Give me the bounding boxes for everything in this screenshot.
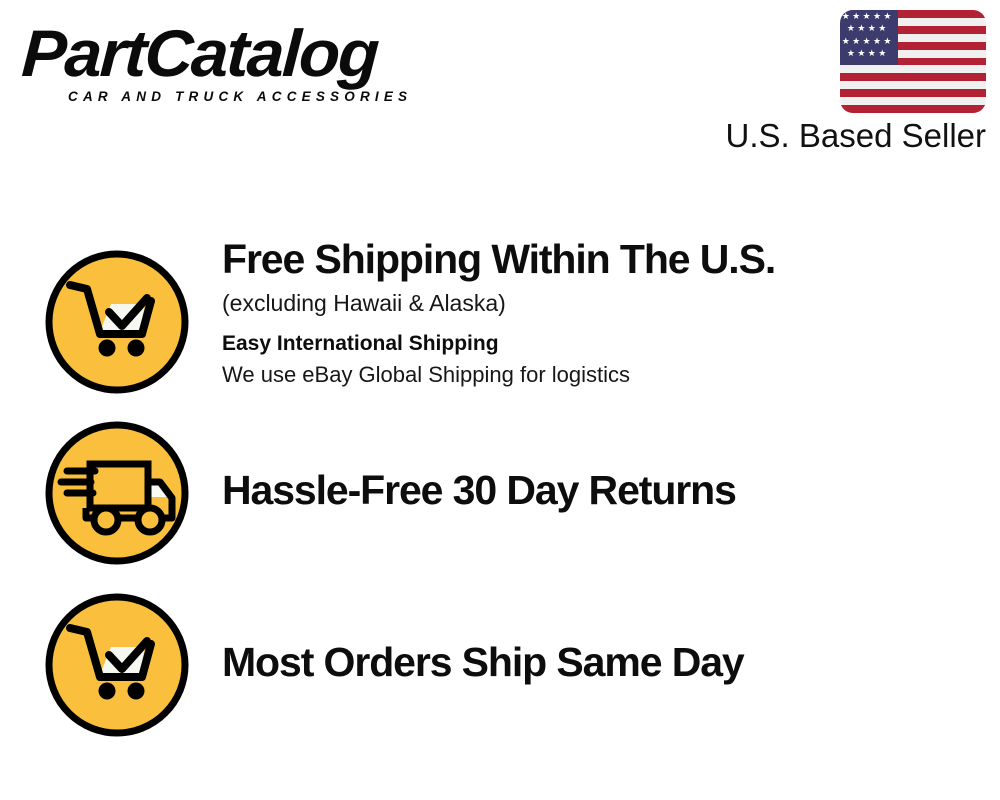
flag-star-icon: ★ <box>862 37 871 46</box>
flag-star-icon: ★ <box>857 24 866 33</box>
flag-star-icon: ★ <box>841 12 850 21</box>
flag-star-icon: ★ <box>857 49 866 58</box>
feature-heading: Most Orders Ship Same Day <box>222 639 982 686</box>
flag-star-icon: ★ <box>878 24 887 33</box>
flag-star-icon: ★ <box>862 12 871 21</box>
partcatalog-logo[interactable]: PartCatalog CAR AND TRUCK ACCESSORIES <box>22 20 492 104</box>
flag-star-icon: ★ <box>846 49 855 58</box>
delivery-truck-icon <box>43 419 191 567</box>
feature-subheading: Easy International Shipping <box>222 330 982 358</box>
flag-star-icon: ★ <box>852 12 861 21</box>
us-based-seller-label: U.S. Based Seller <box>600 117 986 155</box>
flag-stripe <box>840 105 986 113</box>
flag-star-icon: ★ <box>883 12 892 21</box>
flag-star-icon: ★ <box>867 24 876 33</box>
flag-stripe <box>840 89 986 97</box>
flag-star-icon: ★ <box>841 37 850 46</box>
us-flag-icon: ★★★★★★★★★★★★★★★★★★ <box>840 10 986 113</box>
brand-tagline: CAR AND TRUCK ACCESSORIES <box>68 89 492 104</box>
feature-text-free-shipping: Free Shipping Within The U.S. (excluding… <box>222 236 982 389</box>
flag-stripe <box>840 73 986 81</box>
feature-text-returns: Hassle-Free 30 Day Returns <box>222 467 982 514</box>
shopping-cart-check-icon <box>43 591 191 739</box>
page-header: PartCatalog CAR AND TRUCK ACCESSORIES ★★… <box>0 0 1000 170</box>
feature-subtext: We use eBay Global Shipping for logistic… <box>222 360 982 389</box>
feature-heading: Free Shipping Within The U.S. <box>222 236 982 283</box>
flag-star-icon: ★ <box>873 12 882 21</box>
flag-star-icon: ★ <box>852 37 861 46</box>
flag-star-icon: ★ <box>867 49 876 58</box>
shopping-cart-check-icon <box>43 248 191 396</box>
us-flag-badge: ★★★★★★★★★★★★★★★★★★ <box>840 10 986 113</box>
feature-note: (excluding Hawaii & Alaska) <box>222 288 982 318</box>
flag-star-icon: ★ <box>846 24 855 33</box>
flag-star-icon: ★ <box>878 49 887 58</box>
brand-wordmark: PartCatalog <box>20 20 503 86</box>
flag-star-icon: ★ <box>883 37 892 46</box>
flag-canton: ★★★★★★★★★★★★★★★★★★ <box>840 10 898 65</box>
feature-heading: Hassle-Free 30 Day Returns <box>222 467 982 514</box>
flag-star-icon: ★ <box>873 37 882 46</box>
feature-text-same-day: Most Orders Ship Same Day <box>222 639 982 686</box>
